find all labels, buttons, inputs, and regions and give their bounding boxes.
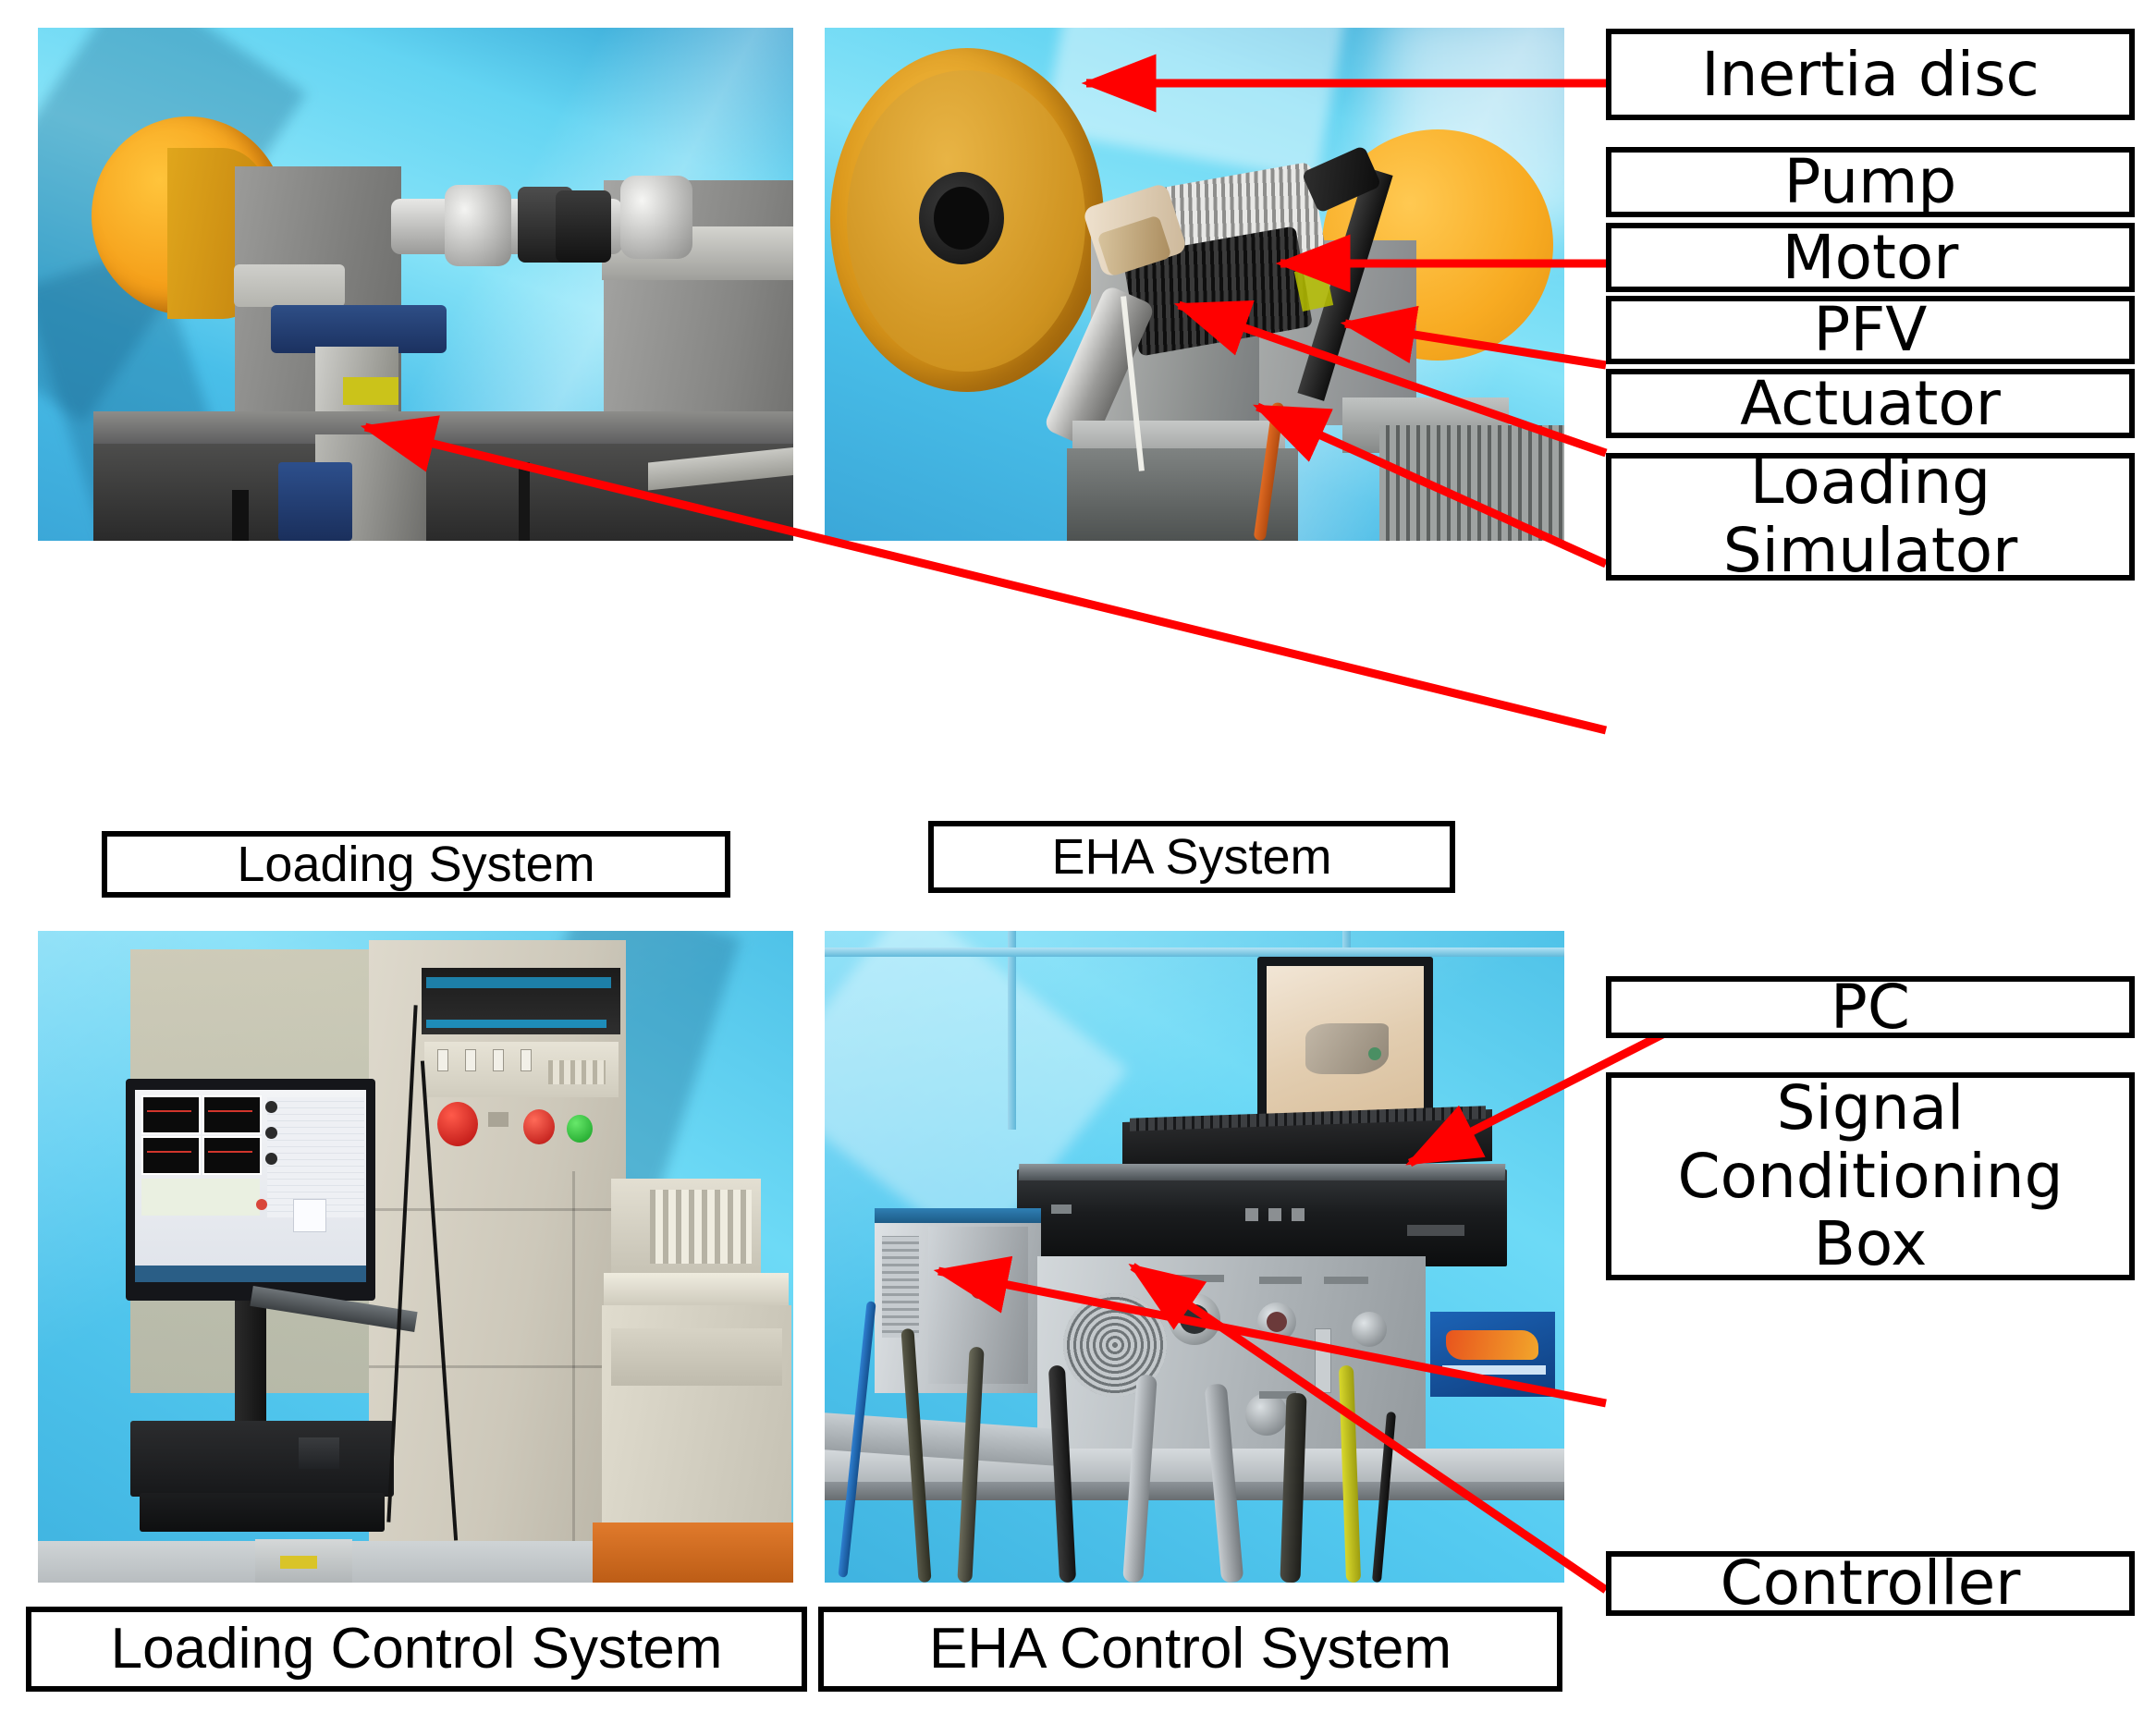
label-signal-conditioning-box-line2: Conditioning <box>1677 1143 2063 1211</box>
caption-loading-system: Loading System <box>102 831 730 898</box>
indicator-red <box>523 1109 555 1144</box>
keyboard-tray <box>130 1421 394 1497</box>
label-actuator-text: Actuator <box>1740 370 2001 438</box>
caption-eha-control-system: EHA Control System <box>818 1607 1562 1692</box>
label-pfv-text: PFV <box>1814 296 1928 364</box>
label-loading-simulator: Loading Simulator <box>1606 453 2135 581</box>
photo-eha-system <box>825 28 1564 541</box>
caption-loading-control-system: Loading Control System <box>26 1607 807 1692</box>
label-signal-conditioning-box: Signal Conditioning Box <box>1606 1072 2135 1280</box>
caption-eha-system-text: EHA System <box>1051 829 1331 885</box>
label-loading-simulator-line1: Loading <box>1750 448 1991 517</box>
label-controller-text: Controller <box>1721 1549 2021 1618</box>
label-pump-text: Pump <box>1784 148 1957 216</box>
label-inertia-disc-text: Inertia disc <box>1701 41 2040 109</box>
photo-loading-control-system <box>38 931 793 1583</box>
indicator-green <box>567 1115 593 1143</box>
label-pump: Pump <box>1606 147 2135 217</box>
label-actuator: Actuator <box>1606 369 2135 438</box>
label-inertia-disc: Inertia disc <box>1606 29 2135 120</box>
caption-eha-control-system-text: EHA Control System <box>929 1617 1452 1681</box>
label-signal-conditioning-box-line3: Box <box>1814 1210 1928 1278</box>
caption-loading-control-system-text: Loading Control System <box>111 1617 723 1681</box>
label-motor: Motor <box>1606 223 2135 292</box>
label-pc: PC <box>1606 976 2135 1038</box>
caption-loading-system-text: Loading System <box>237 837 594 892</box>
photo-eha-control-system <box>825 931 1564 1583</box>
label-signal-conditioning-box-line1: Signal <box>1777 1074 1965 1143</box>
pc-server <box>1017 1169 1507 1266</box>
label-loading-simulator-line2: Simulator <box>1723 517 2018 585</box>
label-controller: Controller <box>1606 1551 2135 1616</box>
photo-loading-system <box>38 28 793 541</box>
label-motor-text: Motor <box>1782 224 1959 292</box>
label-pc-text: PC <box>1831 973 1910 1042</box>
label-pfv: PFV <box>1606 296 2135 364</box>
caption-eha-system: EHA System <box>928 821 1455 893</box>
emergency-stop-button <box>437 1102 478 1146</box>
